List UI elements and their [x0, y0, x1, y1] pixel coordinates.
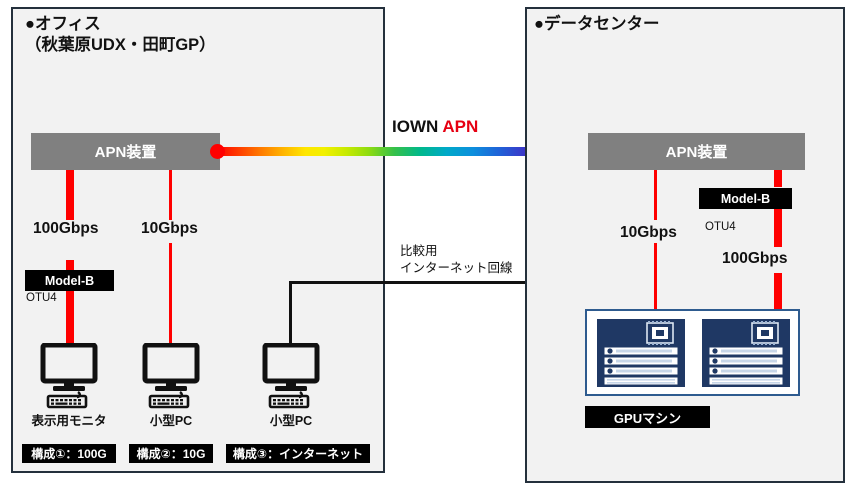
- office-apn-device-label: APN装置: [95, 141, 157, 162]
- iown-label-accent: APN: [442, 117, 478, 136]
- internet-line-label: 比較用 インターネット回線: [400, 243, 513, 277]
- monitor-keyboard-icon: [138, 343, 204, 409]
- terminal-display-monitor: 表示用モニタ: [31, 343, 107, 429]
- dc-cable-100g-upper: [774, 170, 782, 187]
- server-rack-icon: [702, 319, 790, 387]
- datacenter-apn-device-label: APN装置: [666, 141, 728, 162]
- terminal-small-pc-internet: 小型PC: [253, 343, 329, 429]
- server-rack-icon: [597, 319, 685, 387]
- office-cable-10g-lower: [169, 243, 172, 346]
- config-chip-3: 構成③：インターネット: [226, 444, 370, 463]
- dc-model-chip: Model-B: [699, 188, 792, 209]
- dc-speed-10gbps: 10Gbps: [620, 224, 677, 242]
- gpu-machine-label: GPUマシン: [585, 406, 710, 428]
- office-speed-10gbps: 10Gbps: [141, 220, 198, 238]
- iown-apn-label: IOWN APN: [392, 117, 478, 137]
- config-chip-1: 構成①：100G: [22, 444, 116, 463]
- office-cable-10g-upper: [169, 170, 172, 220]
- office-speed-100gbps: 100Gbps: [33, 220, 98, 238]
- terminal-label-small-pc-internet: 小型PC: [253, 410, 329, 429]
- gpu-machine-group: [585, 309, 800, 396]
- internet-line-left-drop: [289, 281, 292, 343]
- iown-link-endpoint-office: [210, 144, 225, 159]
- office-apn-device: APN装置: [31, 133, 220, 170]
- config-chip-2: 構成②：10G: [129, 444, 213, 463]
- diagram-canvas: ●オフィス （秋葉原UDX・田町GP） APN装置 100Gbps 10Gbps…: [0, 0, 860, 491]
- office-otu-label: OTU4: [26, 292, 57, 304]
- office-site-title: ●オフィス （秋葉原UDX・田町GP）: [25, 14, 216, 55]
- terminal-label-small-pc-10g: 小型PC: [133, 410, 209, 429]
- office-model-chip: Model-B: [25, 270, 114, 291]
- datacenter-site-title: ●データセンター: [534, 14, 659, 35]
- dc-cable-100g-lower: [774, 273, 782, 311]
- terminal-small-pc-10g: 小型PC: [133, 343, 209, 429]
- office-cable-100g-upper: [66, 170, 74, 220]
- dc-cable-100g-mid: [774, 208, 782, 247]
- dc-cable-10g-upper: [654, 170, 657, 220]
- datacenter-apn-device: APN装置: [588, 133, 805, 170]
- dc-cable-10g-lower: [654, 243, 657, 311]
- dc-otu-label: OTU4: [705, 221, 736, 233]
- dc-model-name: Model-B: [721, 192, 770, 206]
- office-cable-100g-lower: [66, 289, 74, 346]
- iown-label-primary: IOWN: [392, 117, 438, 136]
- monitor-keyboard-icon: [36, 343, 102, 409]
- dc-speed-100gbps: 100Gbps: [722, 250, 787, 268]
- monitor-keyboard-icon: [258, 343, 324, 409]
- terminal-label-display-monitor: 表示用モニタ: [31, 410, 107, 429]
- office-model-name: Model-B: [45, 274, 94, 288]
